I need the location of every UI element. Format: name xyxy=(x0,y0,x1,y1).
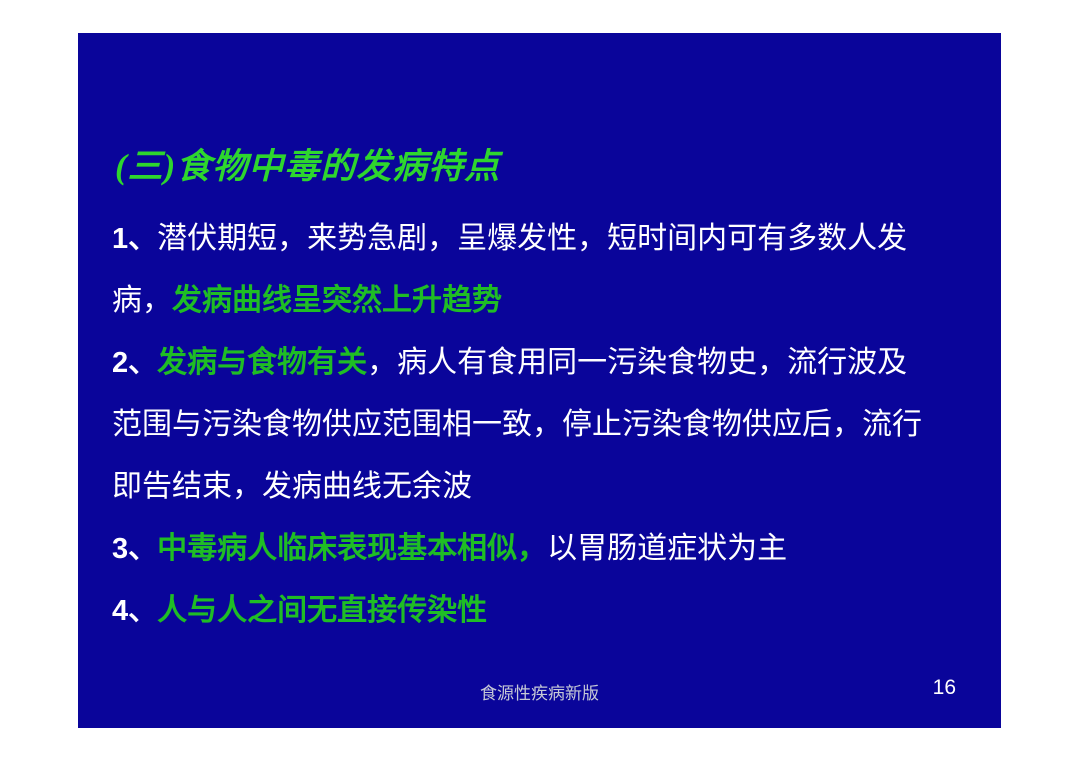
bullet-line: 4、人与人之间无直接传染性 xyxy=(112,580,982,642)
bullet-text-segment: 发病与食物有关 xyxy=(157,346,367,379)
bullet-number: 3、 xyxy=(112,533,157,565)
bullet-line: 2、发病与食物有关，病人有食用同一污染食物史，流行波及 xyxy=(112,332,982,394)
slide-canvas: (三)食物中毒的发病特点 1、潜伏期短，来势急剧，呈爆发性，短时间内可有多数人发… xyxy=(78,33,1001,728)
bullet-line: 1、潜伏期短，来势急剧，呈爆发性，短时间内可有多数人发 xyxy=(112,208,982,270)
slide-title: (三)食物中毒的发病特点 xyxy=(115,138,500,189)
footer-deck-title: 食源性疾病新版 xyxy=(78,679,1001,704)
bullet-text-segment: ，病人有食用同一污染食物史，流行波及 xyxy=(367,346,907,379)
bullet-text-segment: 中毒病人临床表现基本相似， xyxy=(157,532,547,565)
bullet-number: 4、 xyxy=(112,595,157,627)
slide-body-list: 1、潜伏期短，来势急剧，呈爆发性，短时间内可有多数人发病，发病曲线呈突然上升趋势… xyxy=(112,208,982,642)
bullet-text-segment: 即告结束，发病曲线无余波 xyxy=(112,470,472,503)
slide-page-number: 16 xyxy=(933,676,956,700)
bullet-number: 2、 xyxy=(112,347,157,379)
bullet-text-segment: 病， xyxy=(112,284,172,317)
bullet-number: 1、 xyxy=(112,223,157,255)
bullet-line: 范围与污染食物供应范围相一致，停止污染食物供应后，流行 xyxy=(112,394,982,456)
bullet-text-segment: 发病曲线呈突然上升趋势 xyxy=(172,284,502,317)
bullet-text-segment: 以胃肠道症状为主 xyxy=(547,532,787,565)
bullet-line: 即告结束，发病曲线无余波 xyxy=(112,456,982,518)
bullet-text-segment: 人与人之间无直接传染性 xyxy=(157,594,487,627)
bullet-line: 病，发病曲线呈突然上升趋势 xyxy=(112,270,982,332)
bullet-line: 3、中毒病人临床表现基本相似，以胃肠道症状为主 xyxy=(112,518,982,580)
bullet-text-segment: 潜伏期短，来势急剧，呈爆发性，短时间内可有多数人发 xyxy=(157,222,907,255)
bullet-text-segment: 范围与污染食物供应范围相一致，停止污染食物供应后，流行 xyxy=(112,408,922,441)
